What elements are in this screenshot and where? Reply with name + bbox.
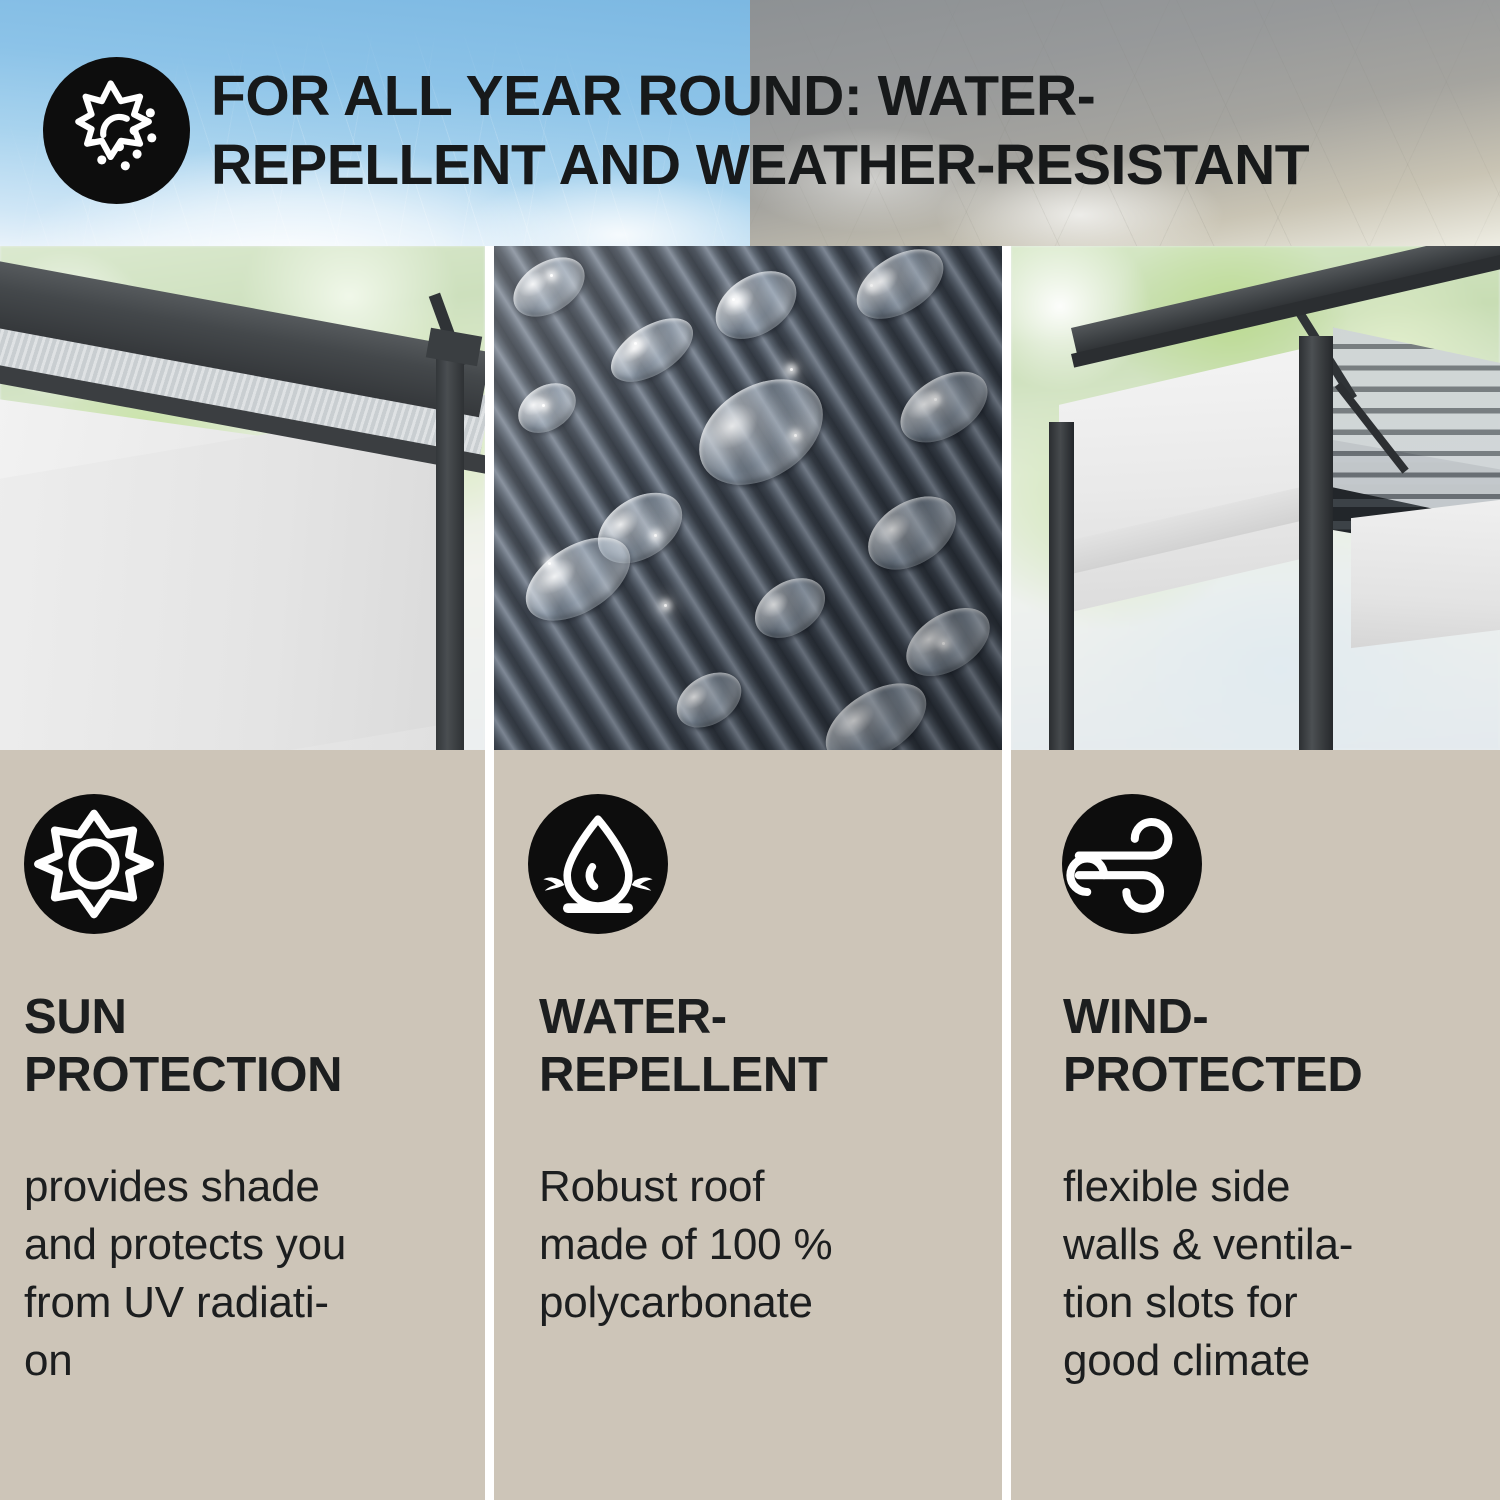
- feature-title: WATER- REPELLENT: [539, 988, 989, 1104]
- photo-water-drops-polycarbonate: [494, 246, 1002, 750]
- surface-sheen-overlay: [494, 246, 1002, 750]
- sun-icon: [24, 794, 164, 934]
- wind-icon: [1062, 794, 1202, 934]
- infographic-page: FOR ALL YEAR ROUND: WATER- REPELLENT AND…: [0, 0, 1500, 1500]
- photo-gazebo-corner-side-wall: [0, 246, 485, 750]
- corner-post: [1299, 336, 1333, 750]
- column-divider: [1002, 750, 1011, 1500]
- feature-column-water-repellent: WATER- REPELLENT Robust roof made of 100…: [494, 750, 1002, 1500]
- corner-post: [436, 342, 464, 750]
- feature-column-wind-protected: WIND- PROTECTED flexible side walls & ve…: [1011, 750, 1500, 1500]
- side-post: [1049, 422, 1074, 750]
- feature-title: SUN PROTECTION: [24, 988, 454, 1104]
- feature-column-sun-protection: SUN PROTECTION provides shade and protec…: [0, 750, 485, 1500]
- photo-gazebo-rolled-curtain: [1011, 246, 1500, 750]
- feature-body: provides shade and protects you from UV …: [24, 1158, 474, 1390]
- feature-columns: SUN PROTECTION provides shade and protec…: [0, 750, 1500, 1500]
- feature-body: flexible side walls & ventila- tion slot…: [1063, 1158, 1493, 1390]
- sun-behind-rain-icon: [43, 57, 190, 204]
- feature-body: Robust roof made of 100 % polycarbonate: [539, 1158, 989, 1332]
- photo-strip: [0, 246, 1500, 750]
- column-divider: [485, 750, 494, 1500]
- water-drop-repellent-icon: [528, 794, 668, 934]
- header-title: FOR ALL YEAR ROUND: WATER- REPELLENT AND…: [211, 62, 1481, 200]
- header-banner: FOR ALL YEAR ROUND: WATER- REPELLENT AND…: [0, 0, 1500, 246]
- feature-title: WIND- PROTECTED: [1063, 988, 1493, 1104]
